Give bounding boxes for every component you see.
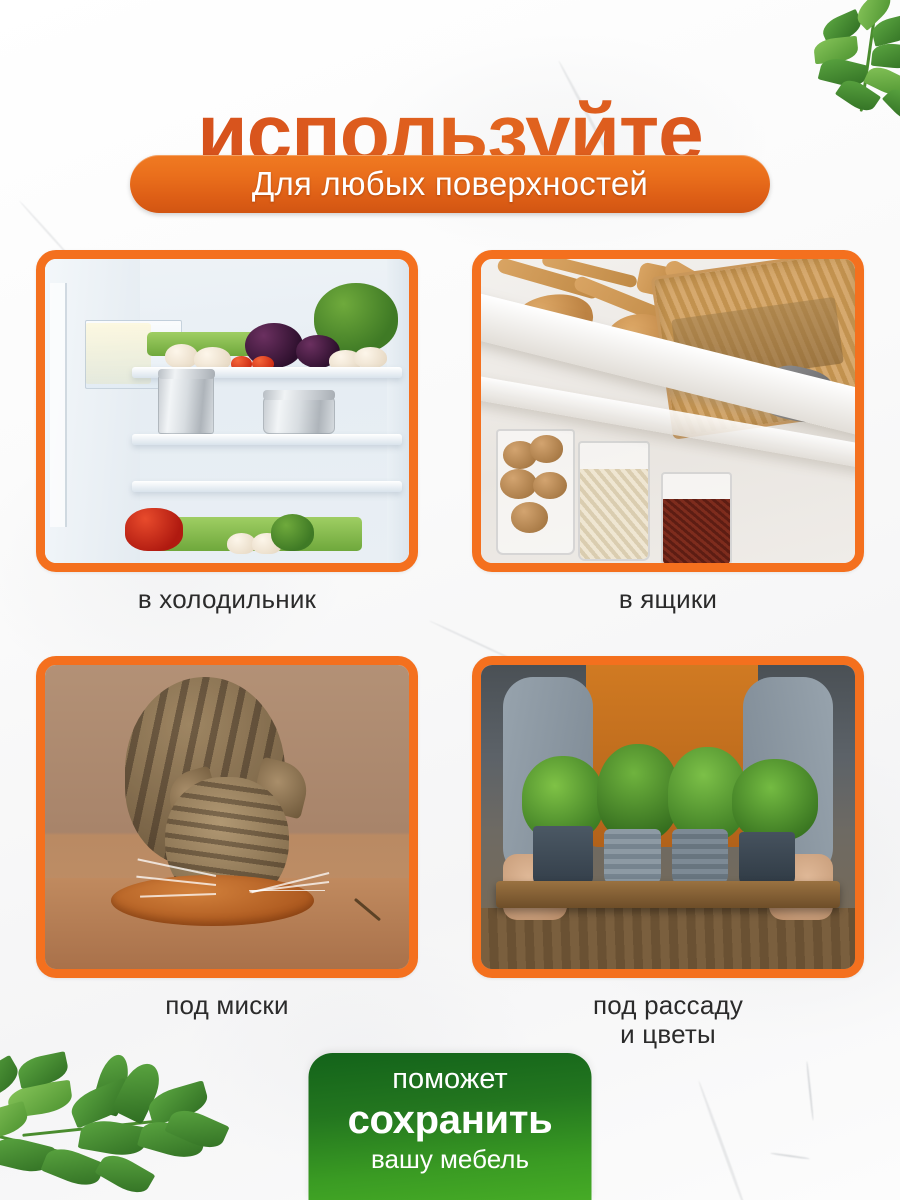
card-caption-bowls: под миски [36, 991, 418, 1020]
card-caption-plants-line1: под рассаду [472, 991, 864, 1020]
marble-vein [770, 1152, 810, 1160]
card-caption-plants: под рассаду и цветы [472, 991, 864, 1049]
footer-green-badge: поможет сохранить вашу мебель [309, 1053, 592, 1200]
card-caption-drawers: в ящики [472, 585, 864, 614]
usage-card-fridge[interactable]: в холодильник [36, 250, 418, 614]
usage-card-plants[interactable]: под рассаду и цветы [472, 656, 864, 1049]
marble-vein [806, 1061, 814, 1121]
card-frame [472, 656, 864, 978]
card-frame [36, 656, 418, 978]
photo-cat-eating [45, 665, 409, 969]
marble-vein [697, 1080, 751, 1200]
promo-page: используйте Для любых поверхностей [0, 0, 900, 1200]
usage-card-bowls[interactable]: под миски [36, 656, 418, 1020]
card-caption-plants-line2: и цветы [472, 1020, 864, 1049]
footer-badge-line2: сохранить [348, 1098, 553, 1142]
photo-refrigerator [45, 259, 409, 563]
footer-badge-line1: поможет [392, 1063, 507, 1096]
card-caption-fridge: в холодильник [36, 585, 418, 614]
subtitle-pill-label: Для любых поверхностей [252, 165, 648, 203]
card-frame [472, 250, 864, 572]
photo-potted-herbs [481, 665, 855, 969]
leaves-decoration-bottom-left [0, 1048, 282, 1200]
footer-badge-line3: вашу мебель [371, 1145, 529, 1175]
photo-kitchen-drawer [481, 259, 855, 563]
usage-card-drawers[interactable]: в ящики [472, 250, 864, 614]
subtitle-pill-badge: Для любых поверхностей [130, 155, 770, 213]
card-frame [36, 250, 418, 572]
